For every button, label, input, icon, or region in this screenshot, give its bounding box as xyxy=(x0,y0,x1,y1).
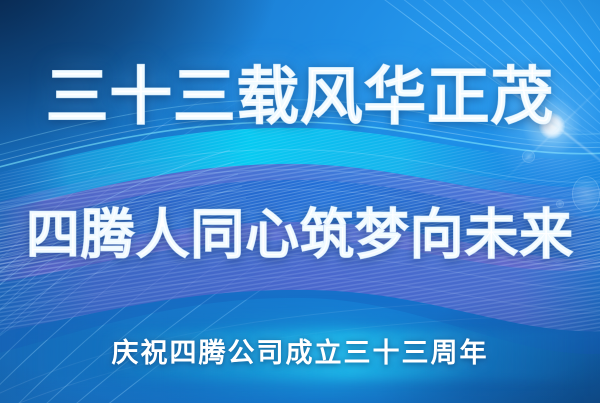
headline-line-1-text: 三十三载风华正茂 xyxy=(46,54,554,140)
lens-flare-bokeh-medium xyxy=(522,150,535,163)
headline-line-2: 四腾人同心筑梦向未来 xyxy=(0,192,600,278)
subtitle: 庆祝四腾公司成立三十三周年 xyxy=(0,337,600,371)
headline-line-1: 三十三载风华正茂 xyxy=(0,54,600,140)
headline-line-2-text: 四腾人同心筑梦向未来 xyxy=(26,192,574,278)
anniversary-poster: 三十三载风华正茂 四腾人同心筑梦向未来 庆祝四腾公司成立三十三周年 xyxy=(0,0,600,403)
